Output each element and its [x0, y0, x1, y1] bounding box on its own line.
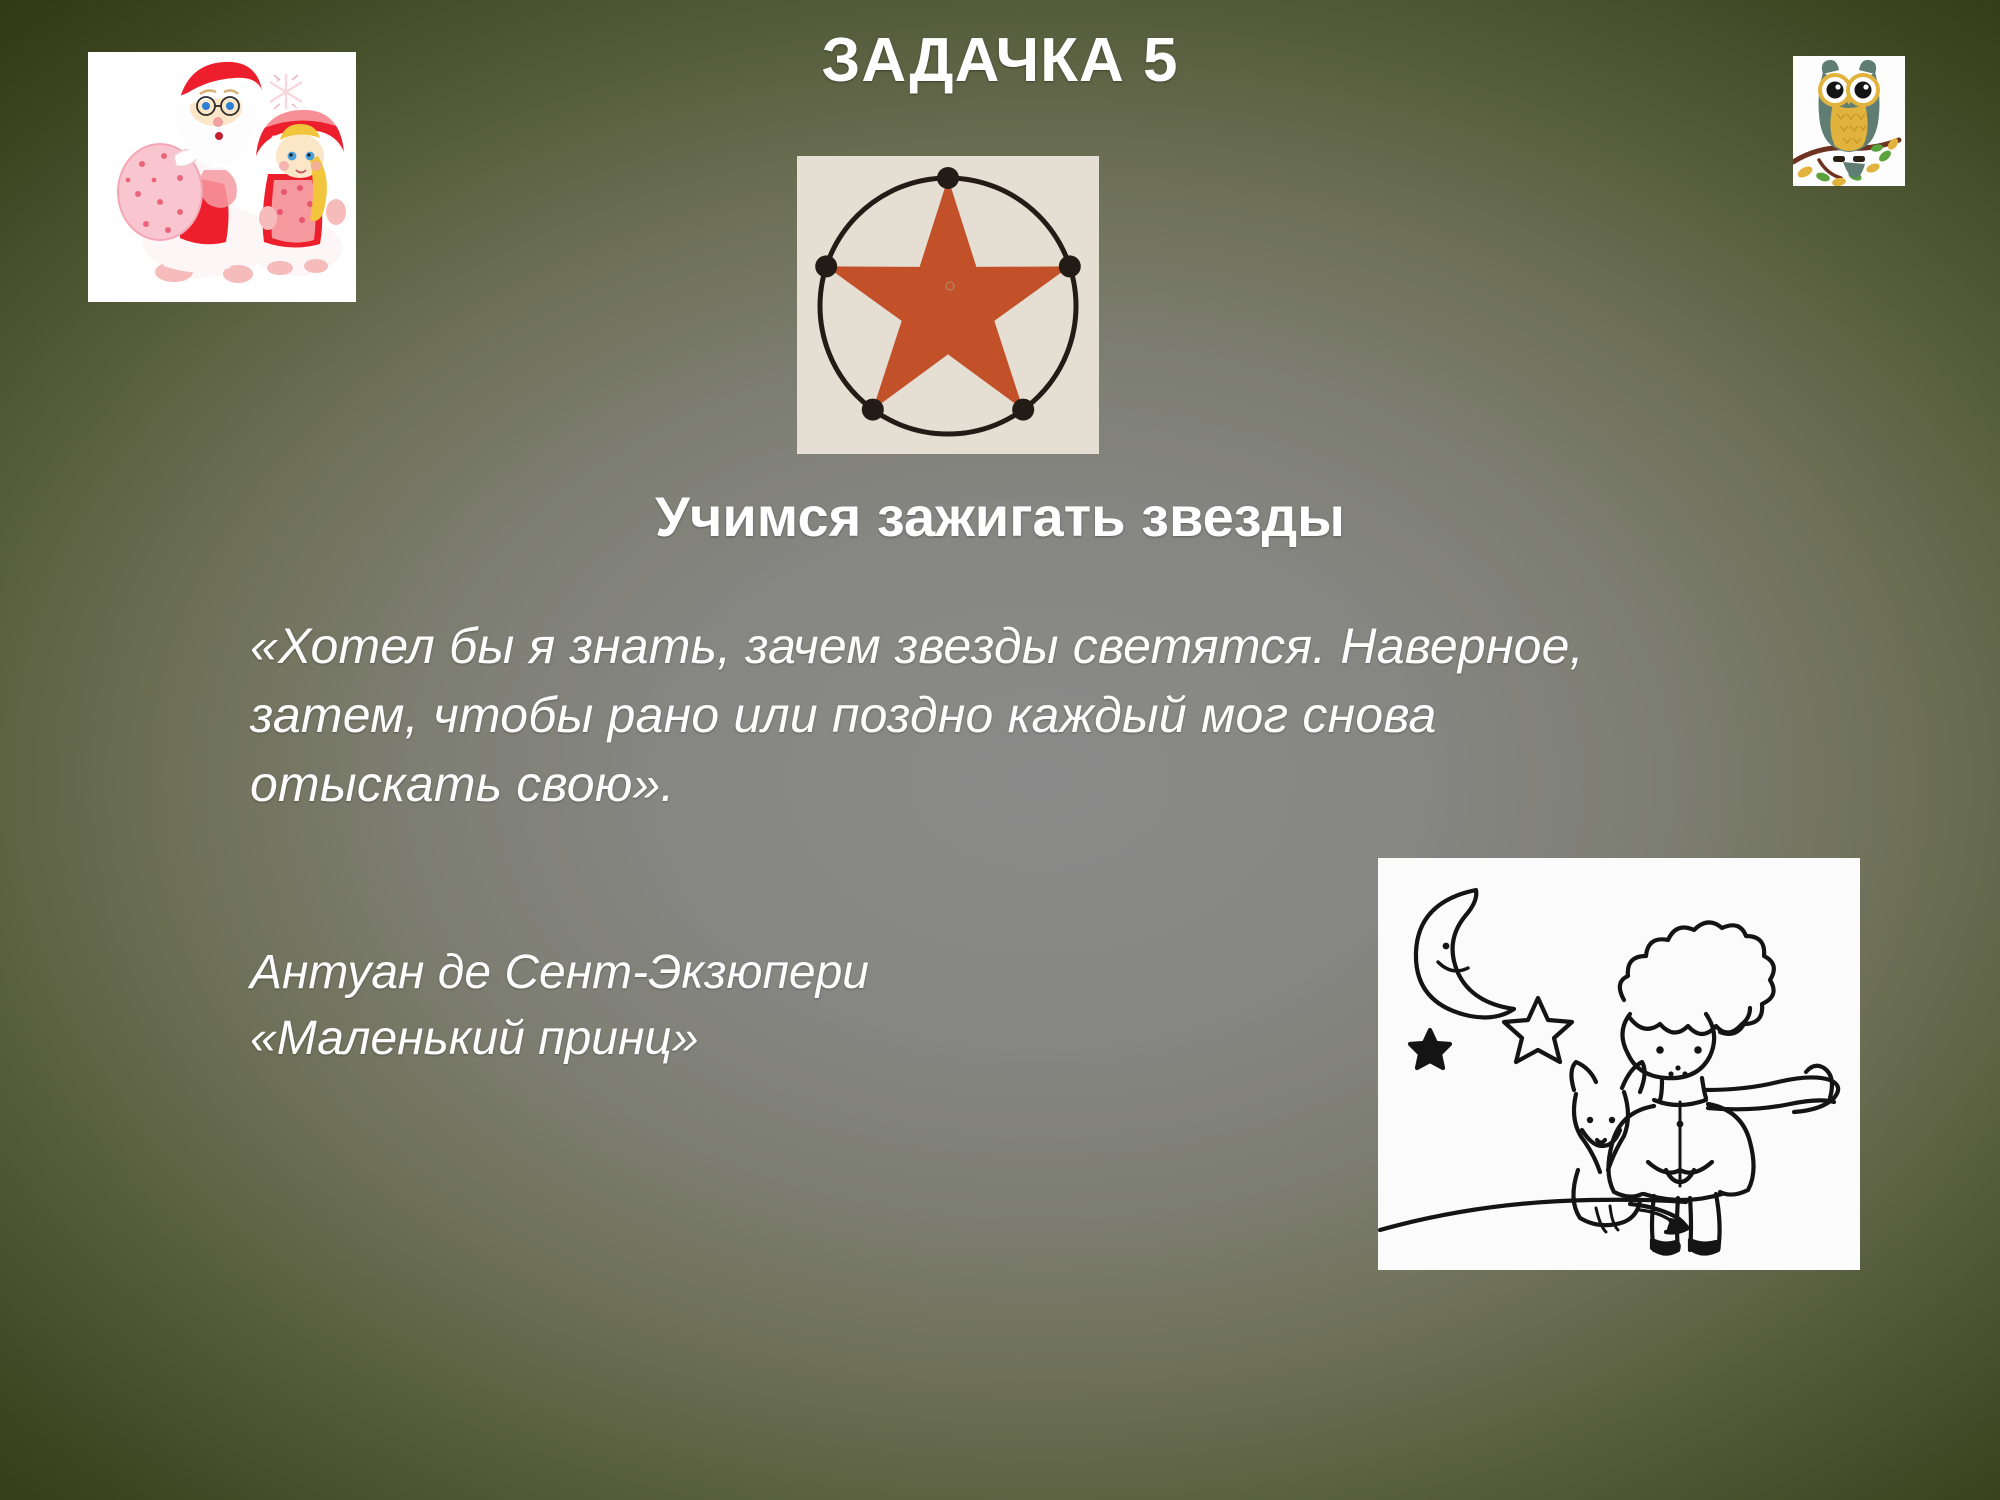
section-subtitle: Учимся зажигать звезды [0, 484, 2000, 549]
slide-canvas: ЗАДАЧКА 5 [0, 0, 2000, 1500]
attribution-author: Антуан де Сент-Экзюпери [250, 940, 1350, 1006]
little-prince-drawing-image [1378, 858, 1860, 1270]
quote-text: «Хотел бы я знать, зачем звезды светятся… [250, 612, 1610, 819]
attribution-work: «Маленький принц» [250, 1006, 1350, 1072]
owl-on-branch-image [1793, 56, 1905, 186]
star-in-circle-image [797, 156, 1099, 454]
quote-attribution: Антуан де Сент-Экзюпери «Маленький принц… [250, 940, 1350, 1072]
ded-moroz-snegurochka-image [88, 52, 356, 302]
